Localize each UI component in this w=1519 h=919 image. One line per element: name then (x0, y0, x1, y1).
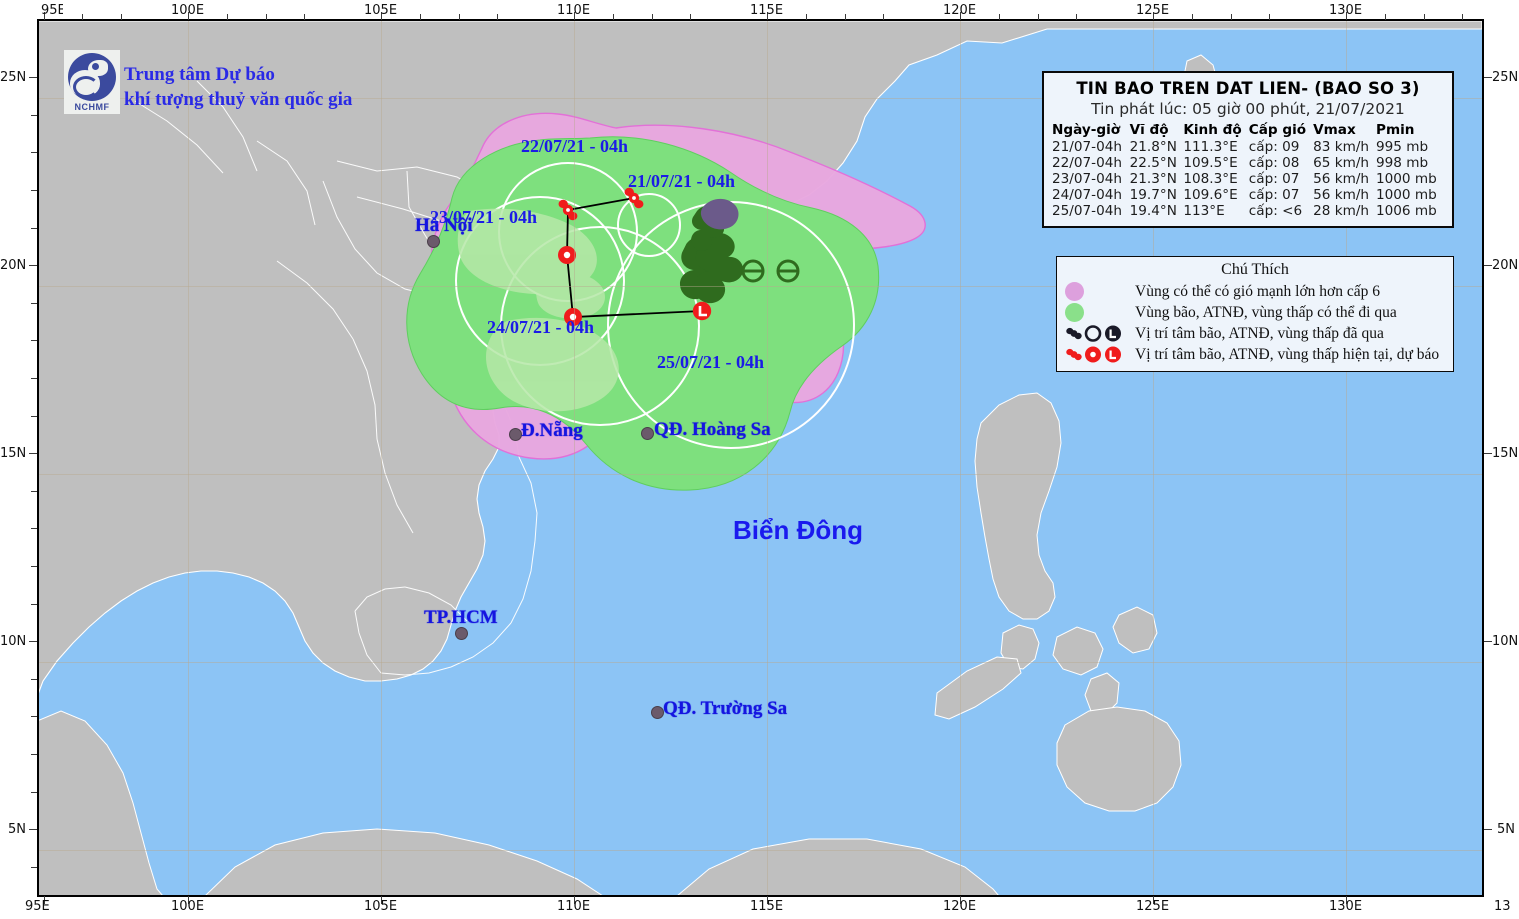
cell-pmin: 1006 mb (1376, 203, 1444, 219)
axis-label-top-130e: 130E (1329, 3, 1362, 18)
gridline-lon-105 (381, 21, 382, 896)
cell-pmin: 998 mb (1376, 155, 1444, 171)
axis-label-left-5n: 5N (8, 822, 26, 837)
city-label-hoang-sa: QĐ. Hoàng Sa (654, 419, 771, 441)
axis-label-bottom-110e: 110E (557, 899, 590, 914)
axis-label-right-15n: 15N (1492, 446, 1518, 461)
cell-vmax: 56 km/h (1313, 187, 1376, 203)
legend-swatch-past-symbols (1063, 324, 1129, 343)
date-label-25-07: 25/07/21 - 04h (657, 352, 764, 373)
cell-cap: cấp: 07 (1249, 187, 1313, 203)
axis-label-right-10n: 10N (1492, 634, 1518, 649)
gridline-lat-5 (37, 850, 1482, 851)
col-datetime: Ngày-giờ (1052, 122, 1130, 139)
current-position-icons (1065, 345, 1125, 364)
cell-vmax: 83 km/h (1313, 139, 1376, 155)
legend-item-wind-zone: Vùng có thể có gió mạnh lớn hơn cấp 6 (1063, 281, 1447, 302)
axis-label-top-110e: 110E (557, 3, 590, 18)
table-row: 23/07-04h 21.3°N 108.3°E cấp: 07 56 km/h… (1052, 171, 1444, 187)
cell-lon: 113°E (1183, 203, 1248, 219)
cell-datetime: 22/07-04h (1052, 155, 1130, 171)
legend-label-past-positions: Vị trí tâm bão, ATNĐ, vùng thấp đã qua (1135, 325, 1384, 343)
axis-label-top-120e: 120E (943, 3, 976, 18)
axis-label-top-125e: 125E (1136, 3, 1169, 18)
pink-circle-icon (1065, 282, 1084, 301)
axis-label-right-5n: 5N (1497, 822, 1515, 837)
table-row: 21/07-04h 21.8°N 111.3°E cấp: 09 83 km/h… (1052, 139, 1444, 155)
axis-label-top-115e: 115E (750, 3, 783, 18)
gridline-lon-120 (960, 21, 961, 896)
logo-acronym: NCHMF (64, 102, 120, 112)
cell-vmax: 56 km/h (1313, 171, 1376, 187)
cell-lon: 109.5°E (1183, 155, 1248, 171)
bulletin-subtitle: Tin phát lúc: 05 giờ 00 phút, 21/07/2021 (1052, 100, 1444, 118)
city-label-tphcm: TP.HCM (424, 607, 498, 629)
nchmf-logo: NCHMF (64, 50, 120, 114)
legend-item-past-positions: Vị trí tâm bão, ATNĐ, vùng thấp đã qua (1063, 323, 1447, 344)
gridline-lon-115 (767, 21, 768, 896)
legend-title: Chú Thích (1063, 261, 1447, 281)
brand-title: Trung tâm Dự báo khí tượng thuỷ văn quốc… (124, 62, 352, 112)
gridline-lon-100 (188, 21, 189, 896)
legend-swatch-pink (1063, 282, 1129, 301)
cell-datetime: 24/07-04h (1052, 187, 1130, 203)
axis-label-right-25n: 25N (1492, 70, 1518, 85)
cell-cap: cấp: 08 (1249, 155, 1313, 171)
cell-datetime: 25/07-04h (1052, 203, 1130, 219)
sea-label-bien-dong: Biển Đông (733, 515, 863, 546)
cell-lon: 108.3°E (1183, 171, 1248, 187)
axis-label-bottom-right-corner: 13 (1494, 899, 1511, 914)
city-label-truong-sa: QĐ. Trường Sa (663, 698, 787, 720)
gridline-lat-15 (37, 474, 1482, 475)
green-circle-icon (1065, 303, 1084, 322)
bulletin-title: TIN BAO TREN DAT LIEN- (BAO SO 3) (1052, 79, 1444, 98)
cell-vmax: 28 km/h (1313, 203, 1376, 219)
cell-vmax: 65 km/h (1313, 155, 1376, 171)
col-lat: Vĩ độ (1130, 122, 1184, 139)
cell-cap: cấp: 07 (1249, 171, 1313, 187)
axis-label-right-20n: 20N (1492, 258, 1518, 273)
storm-symbol-23-07-depression[interactable] (554, 242, 580, 268)
cell-lon: 109.6°E (1183, 187, 1248, 203)
logo-wave-arc (73, 76, 99, 98)
past-position-icons (1065, 324, 1125, 343)
axis-label-bottom-130e: 130E (1329, 899, 1362, 914)
city-label-da-nang: Đ.Nẵng (521, 420, 583, 442)
legend-item-storm-zone: Vùng bão, ATNĐ, vùng thấp có thể đi qua (1063, 302, 1447, 323)
forecast-table-body: 21/07-04h 21.8°N 111.3°E cấp: 09 83 km/h… (1052, 139, 1444, 219)
forecast-table-header-row: Ngày-giờ Vĩ độ Kinh độ Cấp gió Vmax Pmin (1052, 122, 1444, 139)
bulletin-info-panel: TIN BAO TREN DAT LIEN- (BAO SO 3) Tin ph… (1042, 71, 1454, 228)
axis-label-bottom-120e: 120E (943, 899, 976, 914)
date-label-23-07: 23/07/21 - 04h (430, 207, 537, 228)
col-wind-level: Cấp gió (1249, 122, 1313, 139)
plot-frame-bottom (37, 895, 1484, 897)
cell-lat: 19.7°N (1130, 187, 1184, 203)
plot-frame-top (37, 19, 1484, 21)
legend-swatch-current-symbols (1063, 345, 1129, 364)
axis-label-bottom-115e: 115E (750, 899, 783, 914)
date-label-22-07: 22/07/21 - 04h (521, 136, 628, 157)
plot-frame-left (37, 19, 39, 897)
cell-lat: 22.5°N (1130, 155, 1184, 171)
cell-cap: cấp: <6 (1249, 203, 1313, 219)
cell-datetime: 23/07-04h (1052, 171, 1130, 187)
storm-symbol-22-07-cyclone[interactable] (555, 197, 581, 223)
axis-label-left-25n: 25N (0, 70, 26, 85)
storm-symbol-25-07-low[interactable] (689, 298, 715, 324)
cell-lat: 21.3°N (1130, 171, 1184, 187)
brand-line-1: Trung tâm Dự báo (124, 62, 352, 87)
cell-lon: 111.3°E (1183, 139, 1248, 155)
axis-label-top-105e: 105E (364, 3, 397, 18)
axis-label-bottom-100e: 100E (171, 899, 204, 914)
date-label-24-07: 24/07/21 - 04h (487, 317, 594, 338)
axis-label-left-15n: 15N (0, 446, 26, 461)
cell-lat: 19.4°N (1130, 203, 1184, 219)
axis-label-left-20n: 20N (0, 258, 26, 273)
gridline-lat-10 (37, 662, 1482, 663)
legend-label-current-forecast-positions: Vị trí tâm bão, ATNĐ, vùng thấp hiện tại… (1135, 346, 1439, 364)
cell-datetime: 21/07-04h (1052, 139, 1130, 155)
legend-label-storm-zone: Vùng bão, ATNĐ, vùng thấp có thể đi qua (1135, 304, 1397, 322)
axis-label-top-100e: 100E (171, 3, 204, 18)
forecast-table: Ngày-giờ Vĩ độ Kinh độ Cấp gió Vmax Pmin… (1052, 122, 1444, 219)
cell-pmin: 1000 mb (1376, 171, 1444, 187)
legend-label-wind-zone: Vùng có thể có gió mạnh lớn hơn cấp 6 (1135, 283, 1380, 301)
col-lon: Kinh độ (1183, 122, 1248, 139)
legend-swatch-green (1063, 303, 1129, 322)
table-row: 22/07-04h 22.5°N 109.5°E cấp: 08 65 km/h… (1052, 155, 1444, 171)
col-vmax: Vmax (1313, 122, 1376, 139)
map-legend-panel: Chú Thích Vùng có thể có gió mạnh lớn hơ… (1056, 256, 1454, 372)
cell-pmin: 1000 mb (1376, 187, 1444, 203)
cell-lat: 21.8°N (1130, 139, 1184, 155)
logo-bird-eye (92, 63, 99, 70)
storm-forecast-map: Hà Nội Đ.Nẵng QĐ. Hoàng Sa TP.HCM QĐ. Tr… (0, 0, 1519, 919)
axis-label-bottom-125e: 125E (1136, 899, 1169, 914)
table-row: 25/07-04h 19.4°N 113°E cấp: <6 28 km/h 1… (1052, 203, 1444, 219)
date-label-21-07: 21/07/21 - 04h (628, 171, 735, 192)
col-pmin: Pmin (1376, 122, 1444, 139)
plot-frame-right (1482, 19, 1484, 897)
legend-item-current-forecast-positions: Vị trí tâm bão, ATNĐ, vùng thấp hiện tại… (1063, 344, 1447, 365)
axis-label-bottom-105e: 105E (364, 899, 397, 914)
axis-label-bottom-95e: 95E (25, 899, 50, 914)
city-dot-hoang-sa (641, 427, 654, 440)
axis-label-top-95e: 95E (41, 3, 63, 18)
brand-line-2: khí tượng thuỷ văn quốc gia (124, 87, 352, 112)
cell-cap: cấp: 09 (1249, 139, 1313, 155)
table-row: 24/07-04h 19.7°N 109.6°E cấp: 07 56 km/h… (1052, 187, 1444, 203)
axis-label-left-10n: 10N (0, 634, 26, 649)
cell-pmin: 995 mb (1376, 139, 1444, 155)
